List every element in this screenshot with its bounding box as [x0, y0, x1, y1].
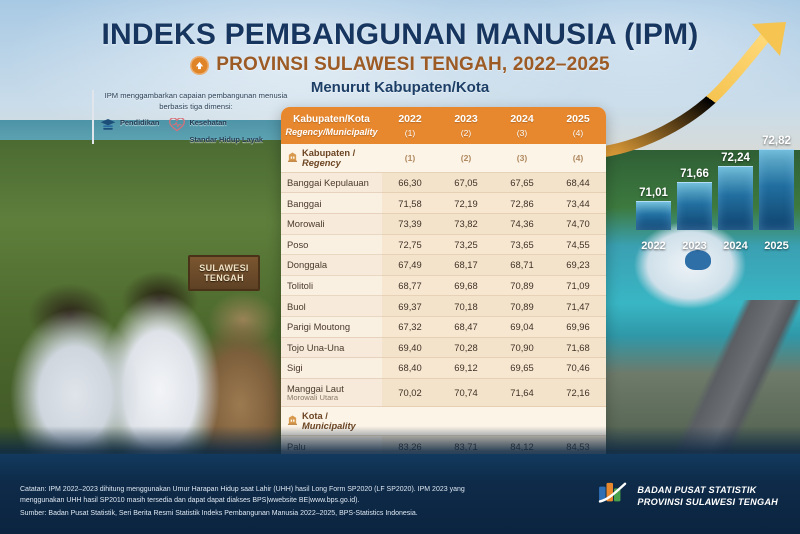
column-header-name-en: Regency/Municipality — [283, 127, 380, 138]
row-value-2022: 72,75 — [382, 234, 438, 255]
bps-branding: BADAN PUSAT STATISTIK PROVINSI SULAWESI … — [597, 481, 778, 512]
group-row-regency-label: Kabupaten / Regency — [281, 144, 382, 173]
page-subtitle: PROVINSI SULAWESI TENGAH, 2022–2025 — [216, 54, 609, 76]
building-icon — [287, 152, 298, 164]
column-header-2024-num: (3) — [496, 128, 548, 139]
bar-axis-label-2025: 2025 — [759, 240, 794, 252]
column-header-2023: 2023 (2) — [438, 107, 494, 144]
row-name-main: Buol — [287, 301, 306, 312]
bps-org-line-1: BADAN PUSAT STATISTIK — [637, 485, 756, 495]
row-name-main: Poso — [287, 239, 308, 250]
sign-line-2: TENGAH — [204, 273, 244, 283]
row-value-2024: 68,71 — [494, 255, 550, 276]
row-name-main: Morowali — [287, 218, 325, 229]
row-value-2023: 73,25 — [438, 234, 494, 255]
row-value-2023: 72,19 — [438, 193, 494, 214]
bar-axis-label-2022: 2022 — [636, 240, 671, 252]
group-row-regency-label-en: Regency — [302, 158, 341, 168]
row-name: Poso — [281, 234, 382, 255]
column-header-2023-year: 2023 — [454, 113, 477, 125]
row-name: Morowali — [281, 213, 382, 234]
group-row-regency: Kabupaten / Regency(1)(2)(3)(4) — [281, 144, 606, 173]
bar-axis-label-2024: 2024 — [718, 240, 753, 252]
footer-note-line-2: menggunakan UHH hasil SP2010 masih terse… — [20, 496, 565, 507]
group-row-municipality-label-id: Kota — [302, 411, 323, 421]
row-name: Buol — [281, 296, 382, 317]
row-value-2024: 73,65 — [494, 234, 550, 255]
row-value-2022: 66,30 — [382, 172, 438, 193]
row-value-2023: 68,47 — [438, 316, 494, 337]
row-value-2024: 69,65 — [494, 358, 550, 379]
column-header-name-id: Kabupaten/Kota — [293, 114, 370, 125]
dimension-health-and-living: Kesehatan Standar Hidup Layak — [169, 118, 263, 144]
row-value-2022: 71,58 — [382, 193, 438, 214]
table-row: Banggai71,5872,1972,8673,44 — [281, 193, 606, 214]
column-header-2022-year: 2022 — [398, 113, 421, 125]
row-value-2024: 72,86 — [494, 193, 550, 214]
table-row: Tolitoli68,7769,6870,8971,09 — [281, 275, 606, 296]
table-header-row: Kabupaten/Kota Regency/Municipality 2022… — [281, 107, 606, 144]
column-header-2025: 2025 (4) — [550, 107, 606, 144]
row-value-2023: 67,05 — [438, 172, 494, 193]
bar-value-2025: 72,82 — [762, 135, 791, 147]
row-value-2024: 74,36 — [494, 213, 550, 234]
table-row: Banggai Kepulauan66,3067,0567,6568,44 — [281, 172, 606, 193]
group-row-regency-num-1: (1) — [382, 144, 438, 173]
up-arrow-circle-icon — [190, 56, 209, 75]
table-row: Sigi68,4069,1269,6570,46 — [281, 358, 606, 379]
ipm-bar-chart: 71,0171,6672,2472,82 2022202320242025 — [636, 112, 794, 252]
row-value-2022: 69,40 — [382, 337, 438, 358]
group-row-regency-num-4: (4) — [550, 144, 606, 173]
bps-org-name: BADAN PUSAT STATISTIK PROVINSI SULAWESI … — [637, 485, 778, 509]
row-value-2025: 73,44 — [550, 193, 606, 214]
table-row: Donggala67,4968,1768,7169,23 — [281, 255, 606, 276]
bar-rect-2025 — [759, 149, 794, 230]
row-name-main: Tolitoli — [287, 280, 313, 291]
bar-rect-2023 — [677, 182, 712, 230]
bps-org-line-2: PROVINSI SULAWESI TENGAH — [637, 497, 778, 507]
column-header-2023-num: (2) — [440, 128, 492, 139]
footer-notes: Catatan: IPM 2022–2023 dihitung mengguna… — [20, 485, 565, 520]
footer-source: Sumber: Badan Pusat Statistik, Seri Beri… — [20, 509, 565, 520]
table-row: Parigi Moutong67,3268,4769,0469,96 — [281, 316, 606, 337]
bar-rect-2022 — [636, 201, 671, 230]
page-title: INDEKS PEMBANGUNAN MANUSIA (IPM) — [0, 18, 800, 52]
row-name-sub: Morowali Utara — [287, 393, 376, 402]
row-name: Tojo Una-Una — [281, 337, 382, 358]
group-row-regency-num-2: (2) — [438, 144, 494, 173]
column-header-2024: 2024 (3) — [494, 107, 550, 144]
row-name-main: Banggai Kepulauan — [287, 177, 369, 188]
table-row: Morowali73,3973,8274,3674,70 — [281, 213, 606, 234]
dimension-living-label: Standar Hidup Layak — [189, 135, 263, 144]
row-value-2024: 70,89 — [494, 296, 550, 317]
group-row-regency-label-sep: / — [350, 148, 355, 158]
bar-rect-2024 — [718, 166, 753, 230]
row-value-2025: 71,09 — [550, 275, 606, 296]
row-name-main: Sigi — [287, 362, 303, 373]
bps-logo-icon — [597, 481, 629, 512]
row-name: Sigi — [281, 358, 382, 379]
row-value-2024: 69,04 — [494, 316, 550, 337]
table-row: Tojo Una-Una69,4070,2870,9071,68 — [281, 337, 606, 358]
row-value-2025: 68,44 — [550, 172, 606, 193]
row-value-2025: 70,46 — [550, 358, 606, 379]
group-row-regency-label-id: Kabupaten — [302, 148, 350, 158]
row-name-main: Donggala — [287, 259, 327, 270]
bar-2025: 72,82 — [759, 118, 794, 230]
row-value-2022: 73,39 — [382, 213, 438, 234]
column-header-2022: 2022 (1) — [382, 107, 438, 144]
bar-value-2022: 71,01 — [639, 187, 668, 199]
row-name-main: Tojo Una-Una — [287, 342, 344, 353]
bar-axis-label-2023: 2023 — [677, 240, 712, 252]
group-row-municipality-label-sep: / — [323, 411, 328, 421]
row-value-2023: 70,28 — [438, 337, 494, 358]
dimension-education: Pendidikan — [100, 118, 159, 137]
row-value-2025: 69,23 — [550, 255, 606, 276]
row-value-2024: 71,64 — [494, 378, 550, 407]
row-value-2022: 67,32 — [382, 316, 438, 337]
row-name-main: Parigi Moutong — [287, 321, 350, 332]
dimension-health-living-labels: Kesehatan Standar Hidup Layak — [189, 118, 263, 144]
wooden-sign: SULAWESI TENGAH — [188, 255, 260, 291]
table-head: Kabupaten/Kota Regency/Municipality 2022… — [281, 107, 606, 144]
row-name: Banggai — [281, 193, 382, 214]
subtitle-row: PROVINSI SULAWESI TENGAH, 2022–2025 — [0, 54, 800, 76]
dimension-health-label: Kesehatan — [189, 118, 263, 127]
row-value-2023: 73,82 — [438, 213, 494, 234]
table-row: Buol69,3770,1870,8971,47 — [281, 296, 606, 317]
dimension-list: Pendidikan Kesehatan Standar Hidup Layak — [100, 118, 292, 144]
row-value-2023: 69,68 — [438, 275, 494, 296]
dimension-education-label: Pendidikan — [120, 118, 159, 127]
row-name: Banggai Kepulauan — [281, 172, 382, 193]
row-value-2023: 70,18 — [438, 296, 494, 317]
row-value-2025: 71,68 — [550, 337, 606, 358]
bar-value-2024: 72,24 — [721, 152, 750, 164]
definition-note-text: IPM menggambarkan capaian pembangunan me… — [100, 90, 292, 112]
row-name-main: Banggai — [287, 198, 321, 209]
row-name: Donggala — [281, 255, 382, 276]
row-value-2025: 71,47 — [550, 296, 606, 317]
bar-value-2023: 71,66 — [680, 168, 709, 180]
row-value-2025: 72,16 — [550, 378, 606, 407]
table-row: Manggai LautMorowali Utara70,0270,7471,6… — [281, 378, 606, 407]
row-value-2023: 70,74 — [438, 378, 494, 407]
bar-2022: 71,01 — [636, 118, 671, 230]
heart-pulse-icon — [169, 118, 185, 137]
row-value-2022: 69,37 — [382, 296, 438, 317]
bar-2023: 71,66 — [677, 118, 712, 230]
row-value-2022: 70,02 — [382, 378, 438, 407]
row-name: Manggai LautMorowali Utara — [281, 378, 382, 407]
row-value-2024: 67,65 — [494, 172, 550, 193]
column-header-2025-num: (4) — [552, 128, 604, 139]
column-header-name: Kabupaten/Kota Regency/Municipality — [281, 107, 382, 144]
bar-chart-axis-labels: 2022202320242025 — [636, 240, 794, 252]
infographic-poster: SULAWESI TENGAH INDEKS PEMBANGUNAN MANUS… — [0, 0, 800, 534]
column-header-2022-num: (1) — [384, 128, 436, 139]
column-header-2024-year: 2024 — [510, 113, 533, 125]
bar-chart-bars: 71,0171,6672,2472,82 — [636, 118, 794, 230]
row-name: Tolitoli — [281, 275, 382, 296]
people-photo — [0, 140, 300, 470]
row-name: Parigi Moutong — [281, 316, 382, 337]
row-value-2023: 69,12 — [438, 358, 494, 379]
row-value-2022: 68,77 — [382, 275, 438, 296]
sign-line-1: SULAWESI — [199, 263, 248, 273]
graduation-cap-icon — [100, 118, 116, 137]
row-value-2022: 68,40 — [382, 358, 438, 379]
mosque-icon — [685, 250, 711, 270]
footer-note-line-1: Catatan: IPM 2022–2023 dihitung mengguna… — [20, 485, 565, 496]
row-value-2023: 68,17 — [438, 255, 494, 276]
group-row-regency-num-3: (3) — [494, 144, 550, 173]
row-value-2022: 67,49 — [382, 255, 438, 276]
row-value-2025: 74,55 — [550, 234, 606, 255]
row-value-2025: 74,70 — [550, 213, 606, 234]
definition-note: IPM menggambarkan capaian pembangunan me… — [92, 90, 292, 144]
row-value-2024: 70,89 — [494, 275, 550, 296]
row-value-2024: 70,90 — [494, 337, 550, 358]
column-header-2025-year: 2025 — [566, 113, 589, 125]
row-value-2025: 69,96 — [550, 316, 606, 337]
table-row: Poso72,7573,2573,6574,55 — [281, 234, 606, 255]
bar-2024: 72,24 — [718, 118, 753, 230]
